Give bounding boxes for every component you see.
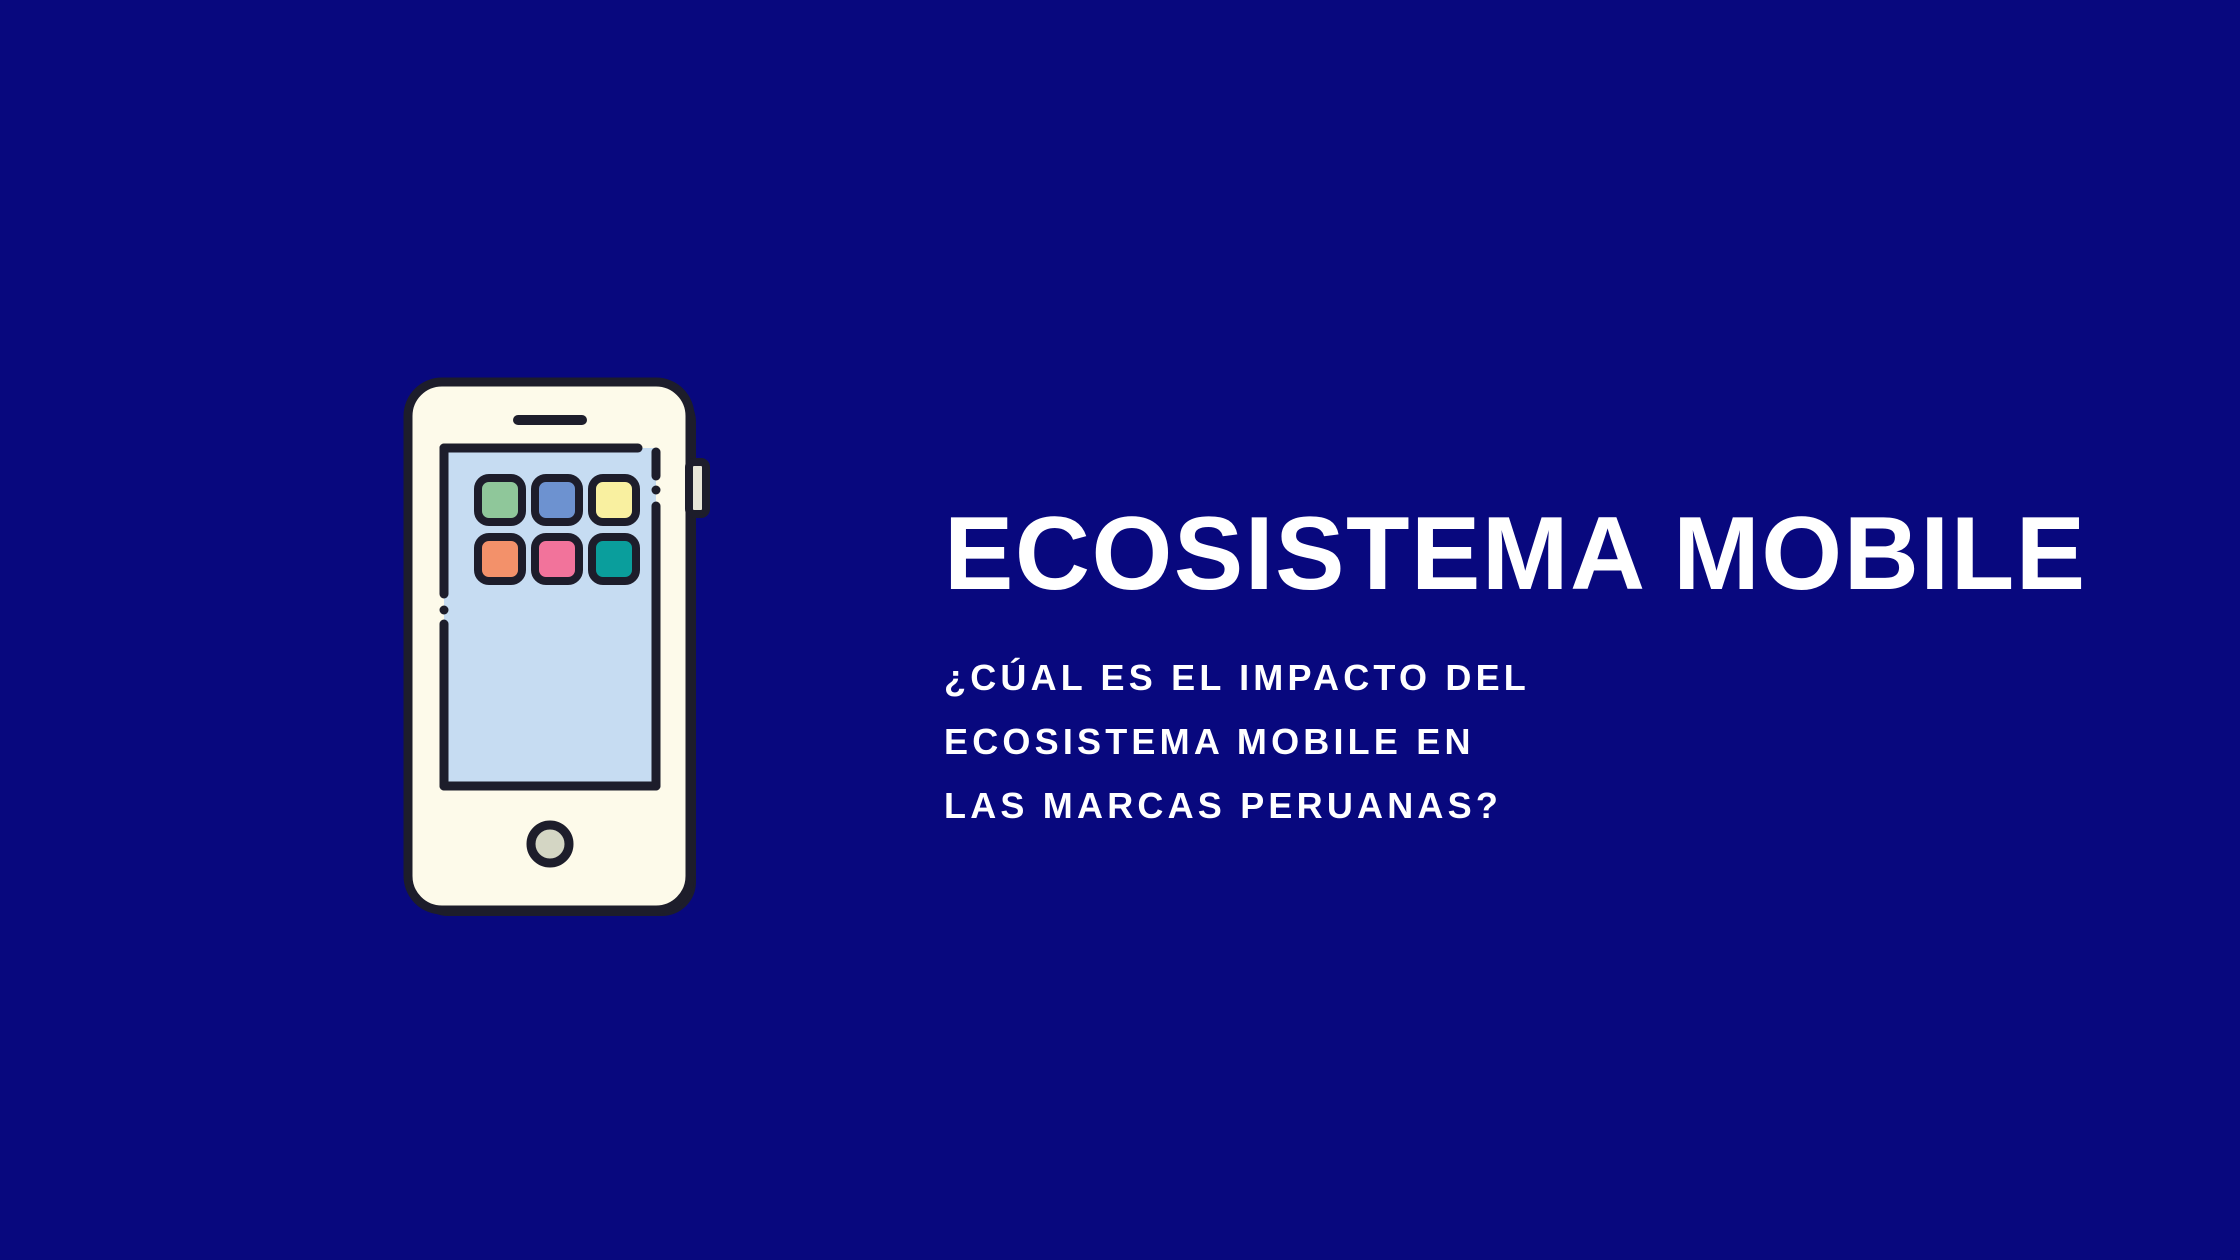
app-icon-yellow bbox=[592, 478, 636, 522]
slide-canvas: ECOSISTEMA MOBILE ¿CÚAL ES EL IMPACTO DE… bbox=[0, 0, 2240, 1260]
app-icon-green bbox=[478, 478, 522, 522]
page-title: ECOSISTEMA MOBILE bbox=[944, 498, 2124, 610]
screen-border-left-dot bbox=[440, 606, 449, 615]
app-icon-orange bbox=[478, 537, 522, 581]
phone-speaker-slot bbox=[513, 415, 587, 425]
smartphone-illustration bbox=[408, 382, 708, 922]
app-icon-teal bbox=[592, 537, 636, 581]
app-icon-blue bbox=[535, 478, 579, 522]
page-subtitle: ¿CÚAL ES EL IMPACTO DEL ECOSISTEMA MOBIL… bbox=[944, 610, 1544, 838]
headline-block: ECOSISTEMA MOBILE ¿CÚAL ES EL IMPACTO DE… bbox=[944, 498, 2124, 838]
phone-home-button bbox=[531, 825, 569, 863]
app-icon-pink bbox=[535, 537, 579, 581]
screen-border-right-dot bbox=[652, 486, 661, 495]
phone-side-button bbox=[689, 462, 706, 514]
